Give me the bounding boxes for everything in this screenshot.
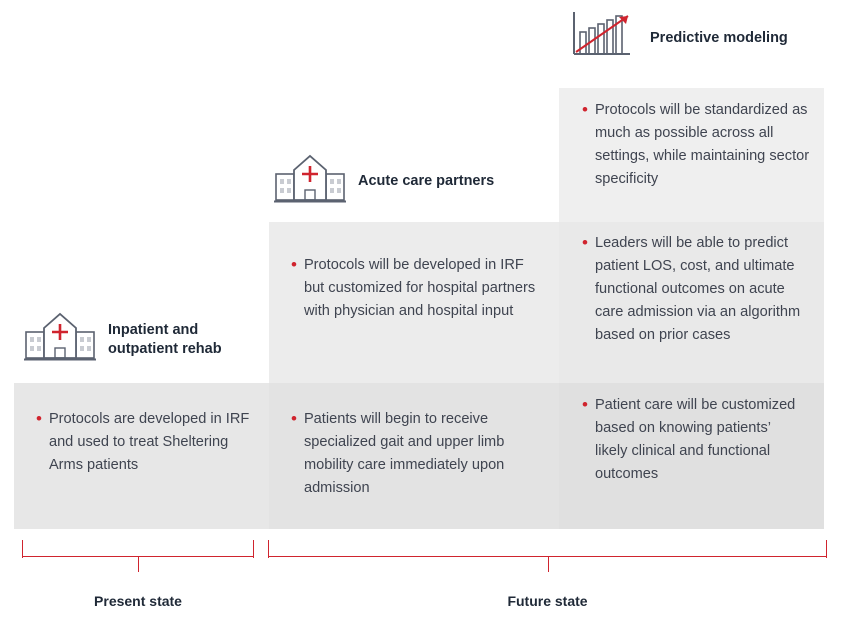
diagram-canvas: Predictive modeling bbox=[0, 0, 852, 617]
list-item: • Patient care will be customized based … bbox=[582, 394, 800, 486]
bullet-text: Patient care will be customized based on… bbox=[595, 394, 800, 486]
bullet-dot-icon: • bbox=[582, 394, 588, 486]
list-item: • Protocols will be developed in IRF but… bbox=[291, 254, 536, 323]
predictive-chart-icon bbox=[568, 8, 640, 69]
bullet-text: Patients will begin to receive specializ… bbox=[304, 408, 539, 500]
bullet-dot-icon: • bbox=[582, 232, 588, 347]
bullet-text: Protocols are developed in IRF and used … bbox=[49, 408, 252, 477]
header-predictive: Predictive modeling bbox=[568, 8, 788, 69]
header-present-label-line2: outpatient rehab bbox=[108, 341, 222, 357]
bullet-text: Protocols will be standardized as much a… bbox=[595, 99, 814, 191]
hospital-building-icon bbox=[272, 150, 348, 213]
bullet-dot-icon: • bbox=[291, 254, 297, 323]
hospital-building-icon bbox=[22, 308, 98, 371]
list-item: • Patients will begin to receive special… bbox=[291, 408, 539, 500]
bracket-future-tick bbox=[548, 556, 549, 572]
list-item: • Leaders will be able to predict patien… bbox=[582, 232, 814, 347]
bullet-dot-icon: • bbox=[582, 99, 588, 191]
header-acute-label: Acute care partners bbox=[358, 172, 494, 191]
bullets-predictive-row3: • Patient care will be customized based … bbox=[582, 394, 800, 486]
bullet-dot-icon: • bbox=[291, 408, 297, 500]
bullet-text: Protocols will be developed in IRF but c… bbox=[304, 254, 536, 323]
footer-future-label: Future state bbox=[268, 593, 827, 609]
header-acute: Acute care partners bbox=[272, 150, 494, 213]
bracket-present-tick bbox=[138, 556, 139, 572]
header-present-label: Inpatient and outpatient rehab bbox=[108, 321, 238, 359]
list-item: • Protocols will be standardized as much… bbox=[582, 99, 814, 191]
bullets-predictive-row2: • Leaders will be able to predict patien… bbox=[582, 232, 814, 347]
bullets-acute-row3: • Patients will begin to receive special… bbox=[291, 408, 539, 500]
bullets-acute-row2: • Protocols will be developed in IRF but… bbox=[291, 254, 536, 323]
list-item: • Protocols are developed in IRF and use… bbox=[36, 408, 252, 477]
footer-present-label: Present state bbox=[22, 593, 254, 609]
bullet-text: Leaders will be able to predict patient … bbox=[595, 232, 814, 347]
bullets-present-row3: • Protocols are developed in IRF and use… bbox=[36, 408, 252, 477]
header-present-label-line1: Inpatient and bbox=[108, 322, 198, 338]
header-present: Inpatient and outpatient rehab bbox=[22, 308, 238, 371]
bullet-dot-icon: • bbox=[36, 408, 42, 477]
header-predictive-label: Predictive modeling bbox=[650, 29, 788, 48]
bullets-predictive-row1: • Protocols will be standardized as much… bbox=[582, 99, 814, 191]
